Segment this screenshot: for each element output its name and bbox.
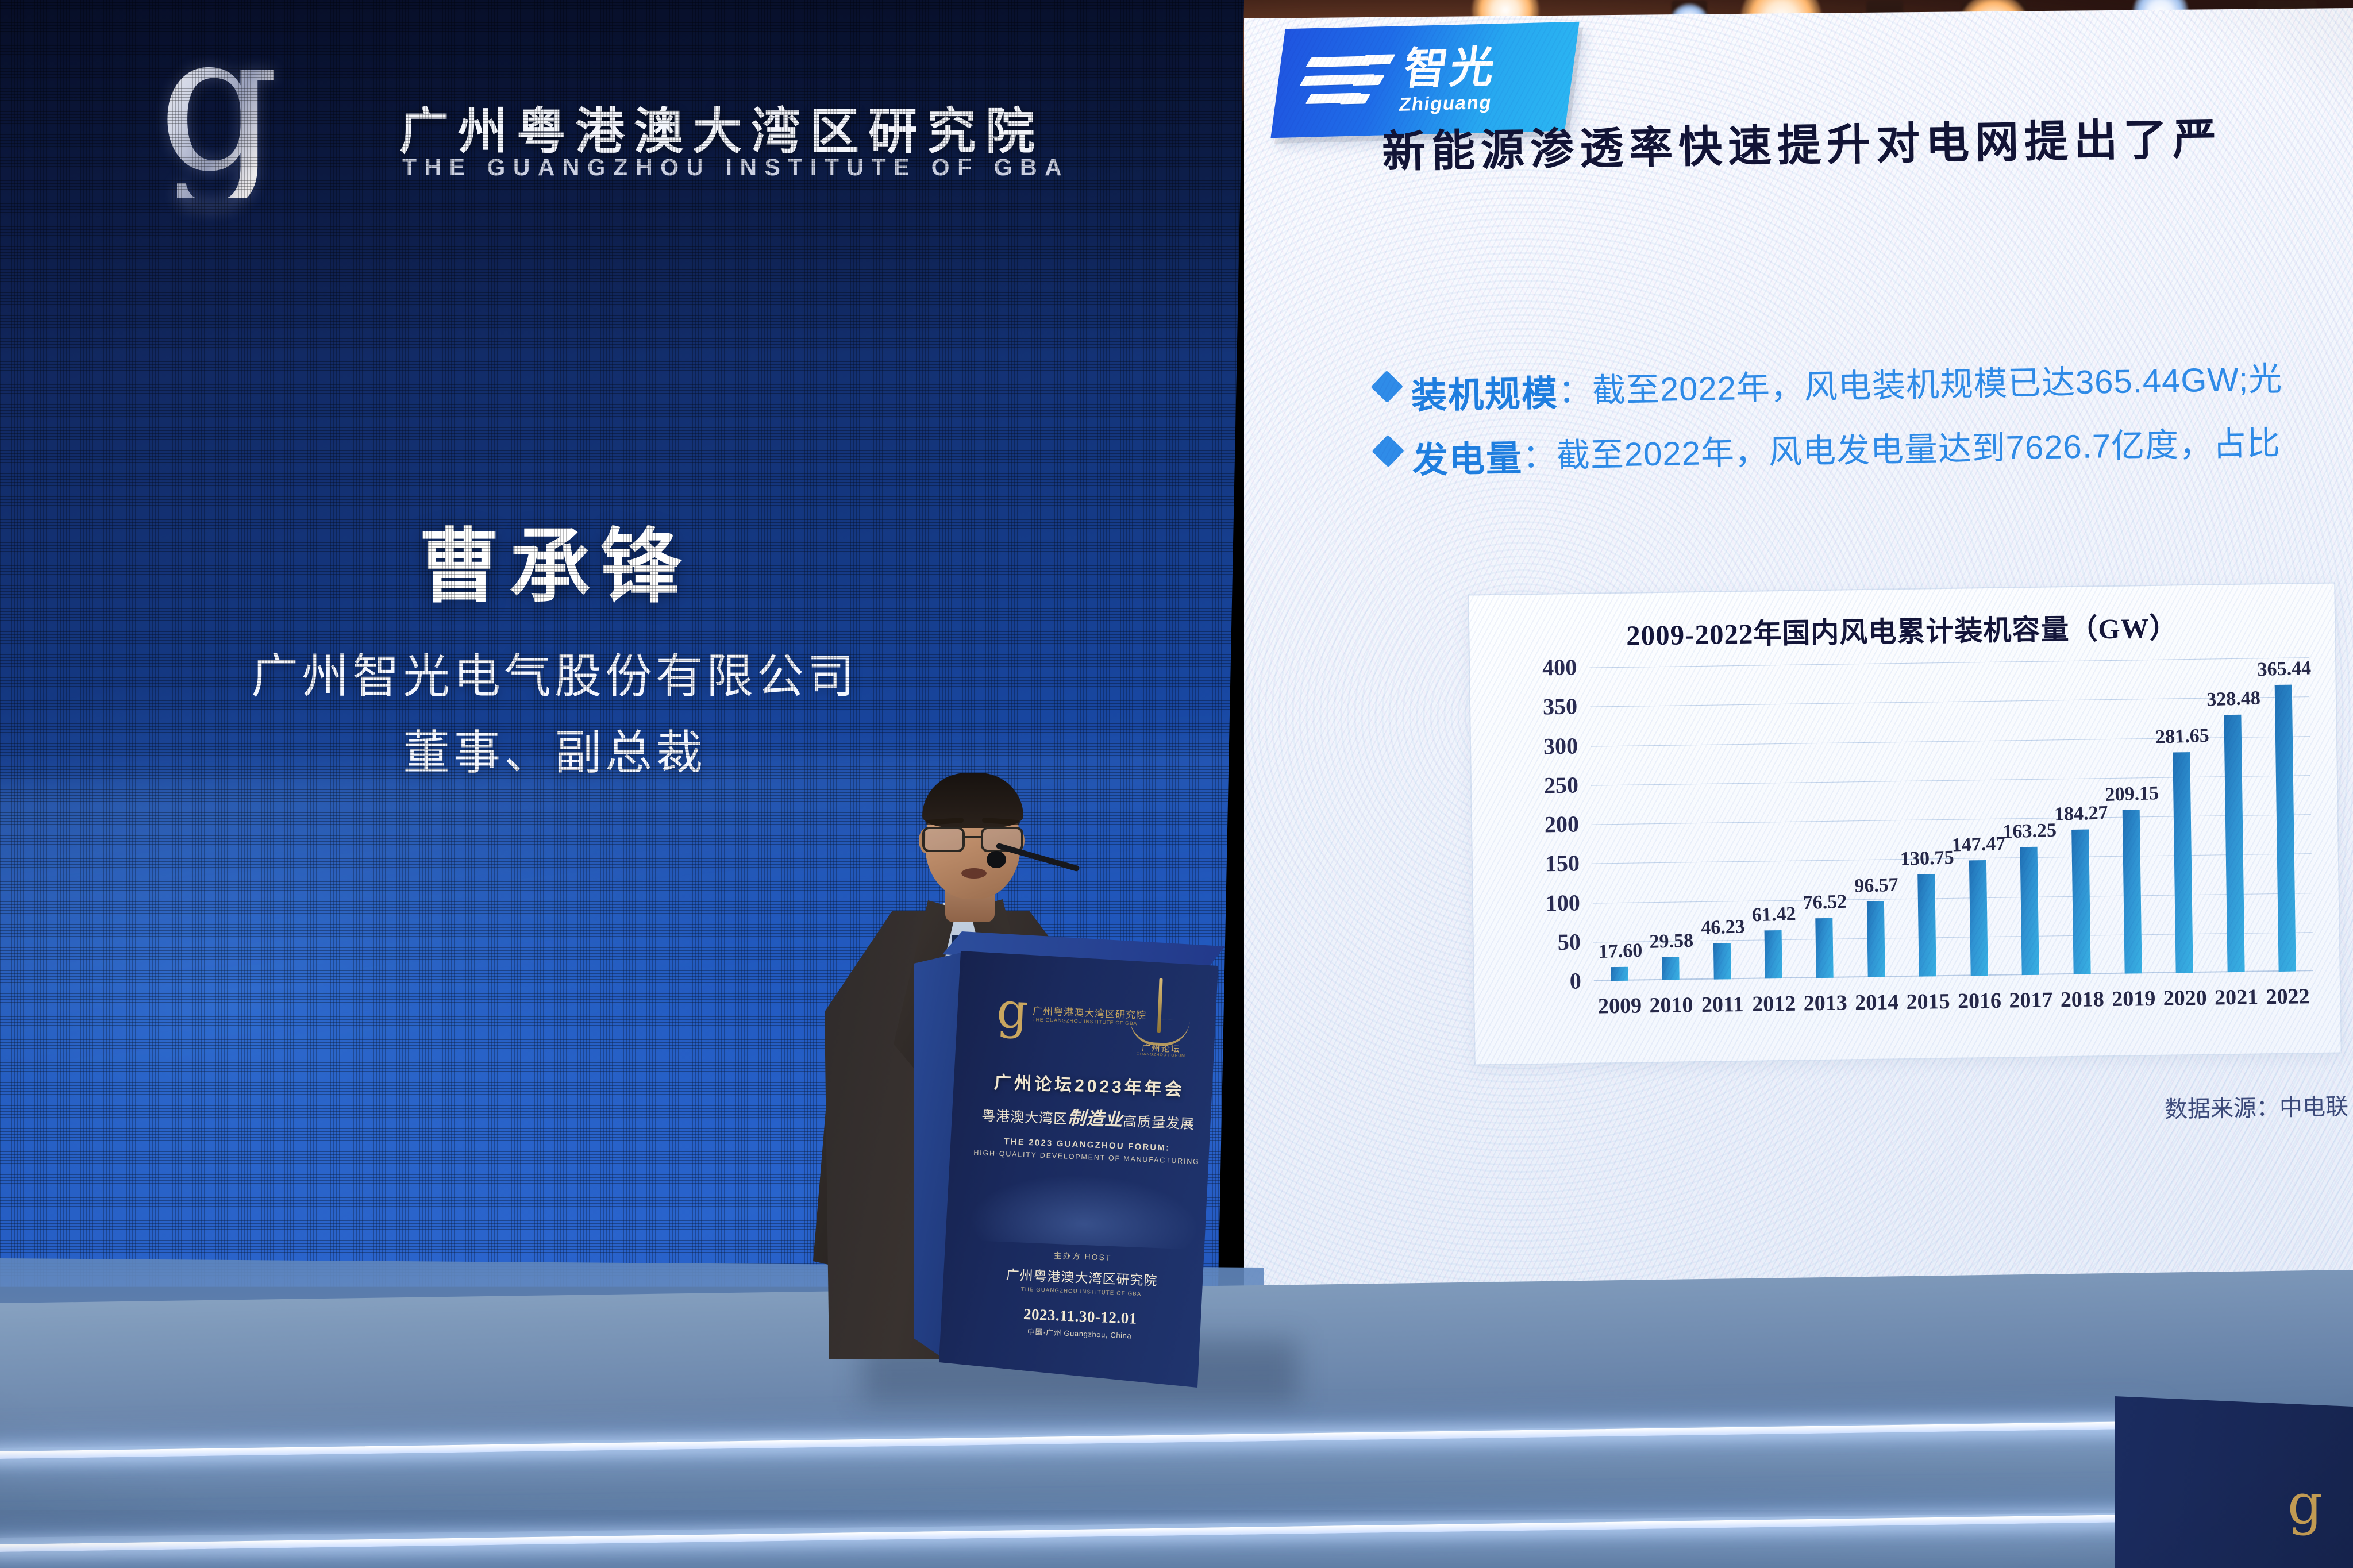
podium-monogram-g-icon: g [994,988,1031,1034]
secondary-podium-monogram-g-icon: g [2287,1480,2328,1530]
chart-bar [2020,847,2039,975]
chart-bar-value-label: 163.25 [2002,820,2057,843]
bullet-key: 发电量 [1412,429,1523,483]
institute-name-en: THE GUANGZHOU INSTITUTE OF GBA [402,154,1069,181]
chart-gridline [1590,696,2309,707]
chart-bar [1713,943,1731,980]
list-item: 发电量 ：截至2022年，风电发电量达到7626.7亿度，占比 [1376,414,2353,484]
chart-bar [2275,685,2296,972]
chart-bar [1969,860,1988,976]
microphone-icon [987,851,1006,868]
chart-bar [2123,810,2142,974]
chart-bar [1816,918,1834,978]
speaking-podium: g 广州粤港澳大湾区研究院 THE GUANGZHOU INSTITUTE OF… [914,951,1218,1388]
chart-plot-area: 40035030025020015010050017.60200929.5820… [1589,657,2313,981]
conference-stage-photo: g 广州粤港澳大湾区研究院 THE GUANGZHOU INSTITUTE OF… [0,0,2353,1568]
chart-bar-value-label: 96.57 [1854,874,1899,897]
chart-gridline [1592,814,2311,825]
chart-bar-value-label: 365.44 [2257,657,2312,681]
chart-x-tick-label: 2014 [1855,989,1899,1015]
speaker-identity-block: 曹承锋 广州智光电气股份有限公司 董事、副总裁 [0,500,1109,783]
chart-x-tick-label: 2011 [1701,992,1744,1018]
chart-x-tick-label: 2013 [1803,990,1847,1016]
chart-gridline [1593,932,2313,942]
chart-y-tick-label: 350 [1543,693,1578,721]
chart-bar-value-label: 29.58 [1649,930,1694,953]
chart-bar-value-label: 76.52 [1803,891,1847,914]
chart-bar [2173,752,2193,973]
chart-x-tick-label: 2022 [2266,984,2310,1010]
zhiguang-name-en: Zhiguang [1398,93,1493,114]
chart-x-tick-label: 2009 [1598,993,1642,1019]
institute-name-cn: 广州粤港澳大湾区研究院 [399,91,1044,163]
chart-bar [1918,874,1936,977]
podium-subline: 粤港澳大湾区制造业高质量发展 [973,1099,1203,1134]
institute-monogram-g: g [158,14,325,198]
podium-skyline-image [968,1170,1201,1250]
podium-graphic-panel: g 广州粤港澳大湾区研究院 THE GUANGZHOU INSTITUTE OF… [962,954,1209,1388]
chart-x-axis [1594,970,2313,981]
speaker-mouth [961,868,987,879]
chart-bar-value-label: 130.75 [1900,847,1955,870]
chart-x-tick-label: 2021 [2215,984,2259,1010]
speaker-name: 曹承锋 [0,500,1109,618]
chart-y-tick-label: 150 [1545,850,1580,877]
podium-logo-row: g 广州粤港澳大湾区研究院 THE GUANGZHOU INSTITUTE OF… [976,954,1210,1068]
diamond-bullet-icon [1372,435,1404,468]
chart-title: 2009-2022年国内风电累计装机容量（GW） [1469,603,2335,656]
bullet-key: 装机规模 [1411,364,1559,418]
chart-gridline [1591,775,2310,785]
chart-x-tick-label: 2016 [1958,988,2002,1014]
chart-y-tick-label: 400 [1542,654,1577,681]
podium-forum-badge-icon: 广州论坛 GUANGZHOU FORUM [1126,977,1199,1060]
wind-capacity-bar-chart: 2009-2022年国内风电累计装机容量（GW） 400350300250200… [1468,582,2342,1065]
podium-subline-suffix: 高质量发展 [1123,1114,1195,1132]
chart-bar-value-label: 46.23 [1700,916,1745,939]
chart-x-tick-label: 2010 [1649,992,1693,1018]
chart-y-tick-label: 100 [1546,889,1581,916]
podium-subline-emphasis: 制造业 [1068,1108,1123,1130]
chart-bar-value-label: 281.65 [2155,725,2210,748]
chart-x-tick-label: 2019 [2112,986,2156,1012]
chart-bar [1611,967,1628,981]
chart-y-tick-label: 50 [1557,928,1581,956]
chart-bar-value-label: 61.42 [1751,903,1796,926]
bullet-text: ：截至2022年，风电装机规模已达365.44GW;光 [1558,352,2283,413]
chart-y-tick-label: 300 [1543,732,1578,760]
institute-lockup: g 广州粤港澳大湾区研究院 THE GUANGZHOU INSTITUTE OF… [172,10,1034,200]
slide-title: 新能源渗透率快速提升对电网提出了严 [1381,101,2353,179]
chart-x-tick-label: 2020 [2163,985,2207,1011]
chart-bar [2224,714,2244,972]
chart-bar [1867,901,1885,977]
chart-gridline [1592,853,2312,864]
zhiguang-logo: 智光 Zhiguang [1270,22,1579,138]
zhiguang-wordmark: 智光 Zhiguang [1398,45,1499,114]
speaker-organization: 广州智光电气股份有限公司 [0,638,1109,706]
chart-bar [2071,830,2091,974]
chart-y-tick-label: 250 [1544,771,1579,799]
chart-gridline [1593,893,2312,903]
screen-moire-texture [1244,8,2353,1295]
diamond-bullet-icon [1370,371,1403,403]
chart-bar [1662,957,1680,980]
podium-subline-prefix: 粤港澳大湾区 [981,1108,1068,1127]
chart-y-tick-label: 0 [1569,967,1581,994]
chart-gridline [1589,657,2309,668]
chart-bar [1765,930,1782,978]
chart-bar-value-label: 328.48 [2206,687,2261,711]
chart-x-tick-label: 2017 [2009,987,2053,1013]
list-item: 装机规模 ：截至2022年，风电装机规模已达365.44GW;光 [1375,350,2353,419]
zhiguang-name-cn: 智光 [1401,45,1499,91]
chart-x-tick-label: 2015 [1906,989,1950,1015]
backdrop-top-shade [0,0,1244,356]
slide-bullet-list: 装机规模 ：截至2022年，风电装机规模已达365.44GW;光 发电量 ：截至… [1375,350,2353,496]
chart-x-tick-label: 2012 [1752,991,1796,1017]
chart-y-tick-label: 200 [1545,810,1580,838]
chart-bar-value-label: 17.60 [1598,940,1643,963]
chart-bar-value-label: 147.47 [1951,833,2006,856]
bullet-text: ：截至2022年，风电发电量达到7626.7亿度，占比 [1522,416,2281,477]
chart-bar-value-label: 209.15 [2105,783,2159,806]
secondary-podium: g [2115,1396,2353,1568]
chart-source-note: 数据来源：中电联 [2165,1088,2349,1124]
chart-gridline [1591,736,2310,746]
presentation-screen: 智光 Zhiguang 新能源渗透率快速提升对电网提出了严 装机规模 ：截至20… [1244,8,2353,1295]
chart-x-tick-label: 2018 [2061,987,2105,1012]
zhiguang-mark-icon [1298,50,1393,114]
podium-headline: 广州论坛2023年年会 [974,1067,1204,1101]
chart-bar-value-label: 184.27 [2054,803,2108,826]
